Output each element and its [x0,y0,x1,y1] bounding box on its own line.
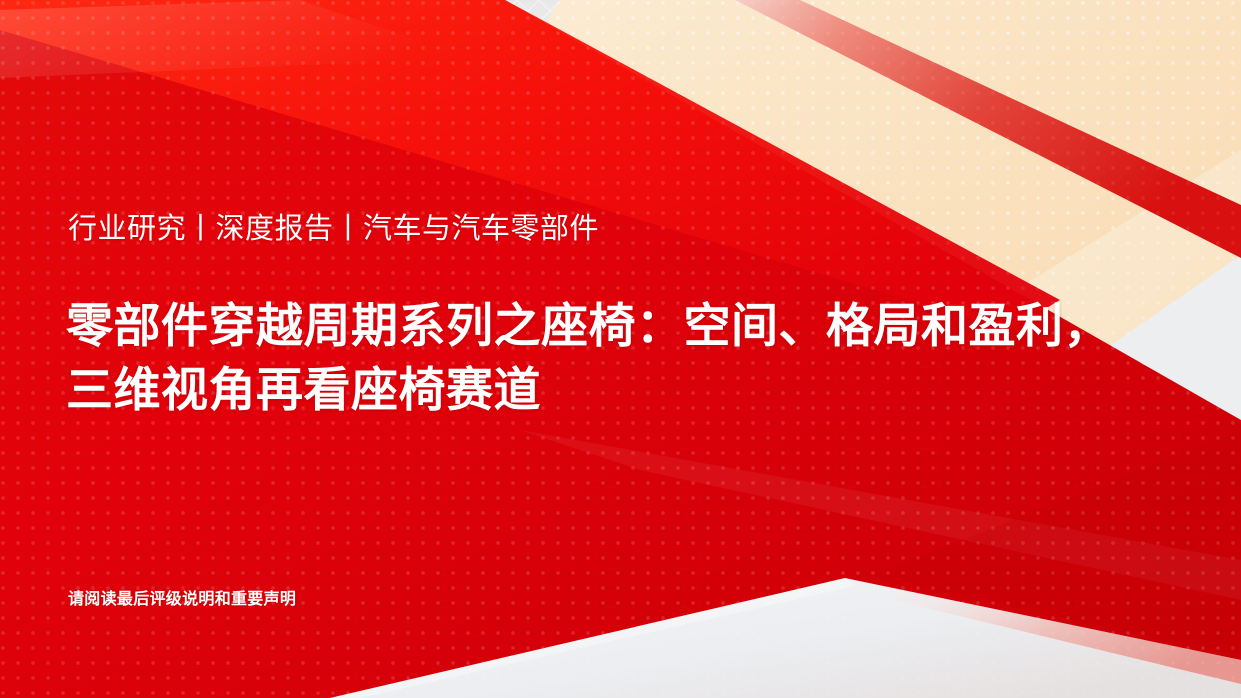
report-category-eyebrow: 行业研究丨深度报告丨汽车与汽车零部件 [68,211,599,247]
page-title-line-1: 零部件穿越周期系列之座椅：空间、格局和盈利， [66,294,1196,358]
page-title-line-2: 三维视角再看座椅赛道 [66,358,1196,422]
cover-text-block: 行业研究丨深度报告丨汽车与汽车零部件 零部件穿越周期系列之座椅：空间、格局和盈利… [0,0,1241,698]
report-cover-slide: 行业研究丨深度报告丨汽车与汽车零部件 零部件穿越周期系列之座椅：空间、格局和盈利… [0,0,1241,698]
page-title: 零部件穿越周期系列之座椅：空间、格局和盈利， 三维视角再看座椅赛道 [66,294,1196,422]
disclaimer-footnote: 请阅读最后评级说明和重要声明 [68,589,296,611]
